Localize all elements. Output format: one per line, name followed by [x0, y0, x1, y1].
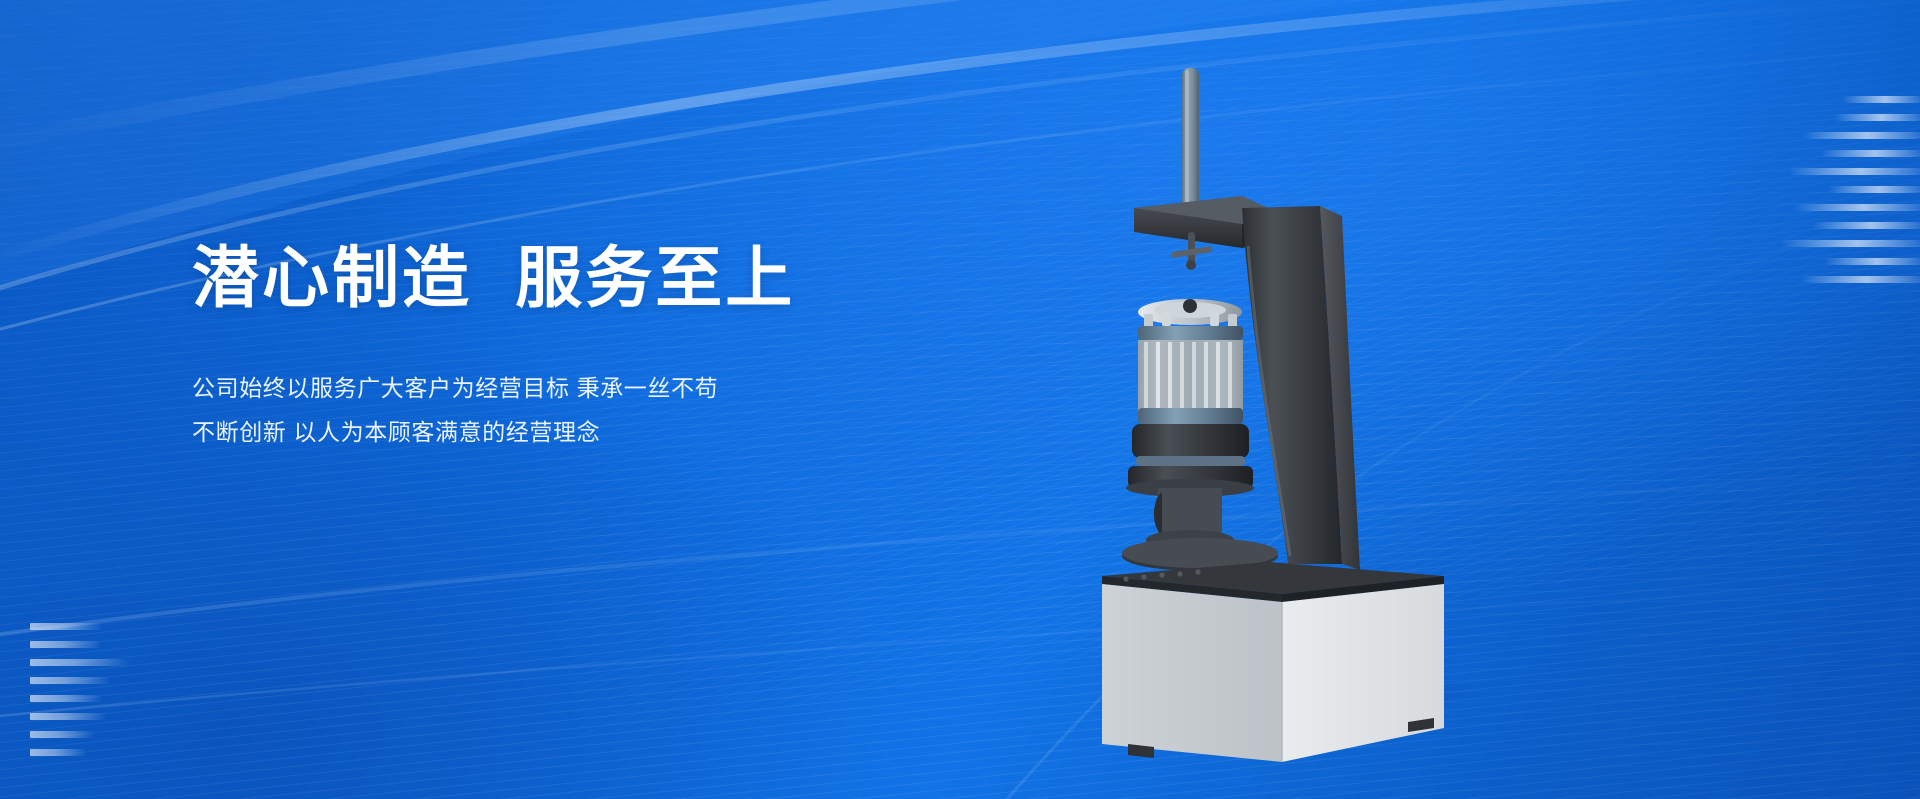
tick-mark	[30, 641, 102, 648]
tick-mark	[30, 677, 110, 684]
hero-subtitle: 公司始终以服务广大客户为经营目标 秉承一丝不苟 不断创新 以人为本顾客满意的经营…	[192, 366, 1012, 454]
right-edge-tick-marks	[1780, 96, 1920, 294]
tick-mark	[1802, 132, 1920, 139]
curved-column-part	[1242, 206, 1360, 570]
tick-mark	[1812, 222, 1920, 229]
tick-mark	[30, 713, 106, 720]
subtitle-line-2: 不断创新 以人为本顾客满意的经营理念	[192, 410, 1012, 454]
base-collar-part	[1122, 424, 1278, 571]
tick-mark	[30, 695, 102, 702]
tick-mark	[1834, 114, 1920, 121]
tick-mark	[1788, 168, 1920, 175]
tick-mark	[1824, 258, 1920, 265]
tick-mark	[1800, 276, 1920, 283]
tick-mark	[1820, 150, 1920, 157]
hero-copy-block: 潜心制造 服务至上 公司始终以服务广大客户为经营目标 秉承一丝不苟 不断创新 以…	[192, 240, 1012, 454]
page-title: 潜心制造 服务至上	[192, 240, 1012, 318]
finned-cylinder-head-part	[1138, 299, 1243, 424]
tick-mark	[1780, 240, 1920, 247]
left-edge-tick-marks	[30, 623, 130, 767]
tick-mark	[30, 623, 102, 630]
subtitle-line-1: 公司始终以服务广大客户为经营目标 秉承一丝不苟	[192, 366, 1012, 410]
white-cabinet-pedestal-part	[1102, 562, 1444, 762]
tick-mark	[30, 749, 86, 756]
vertical-shaft-part	[1182, 68, 1199, 220]
product-illustration	[1092, 56, 1572, 756]
tick-mark	[1794, 204, 1920, 211]
hero-banner: 潜心制造 服务至上 公司始终以服务广大客户为经营目标 秉承一丝不苟 不断创新 以…	[0, 0, 1920, 799]
tick-mark	[30, 731, 94, 738]
tick-mark	[30, 659, 130, 666]
tick-mark	[1842, 96, 1920, 103]
tick-mark	[1828, 186, 1920, 193]
